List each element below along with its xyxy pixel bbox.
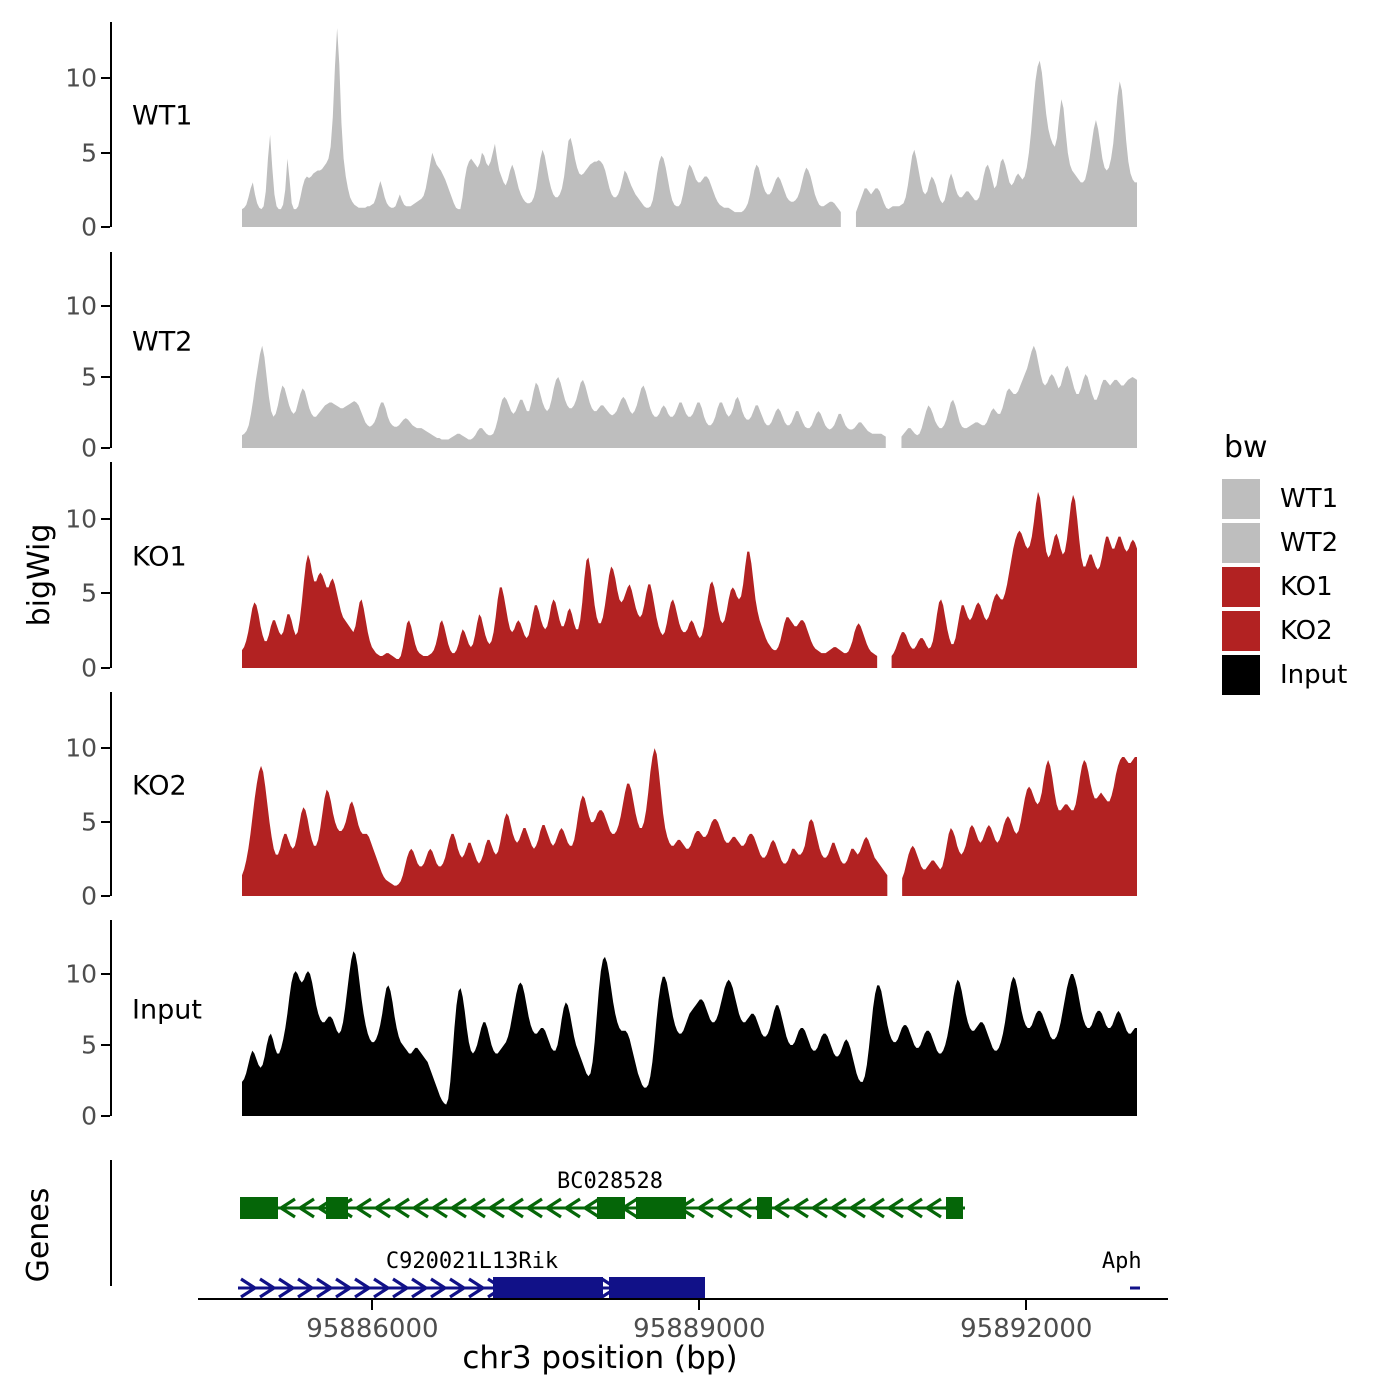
- gene-bc028528[interactable]: BC028528: [240, 1169, 965, 1219]
- y-tick: [101, 895, 110, 897]
- legend-title: bw: [1224, 430, 1397, 465]
- gene-exon: [757, 1197, 772, 1219]
- genes-track-panel: BC028528C920021L13RikAph1a: [110, 1160, 1140, 1300]
- x-axis-line: [198, 1298, 1168, 1300]
- gene-exon: [240, 1197, 278, 1219]
- gene-exon: [609, 1277, 705, 1299]
- legend-item-ko2[interactable]: KO2: [1222, 609, 1397, 653]
- y-tick-label: 5: [81, 1030, 97, 1059]
- x-tick: [698, 1300, 700, 1310]
- gene-exon: [636, 1197, 686, 1219]
- signal-path: [242, 748, 1137, 896]
- y-tick: [101, 592, 110, 594]
- gene-intron-line: [1130, 1287, 1140, 1290]
- signal-path: [242, 951, 1137, 1116]
- y-tick-label: 0: [81, 882, 97, 911]
- gene-exon: [326, 1197, 348, 1219]
- signal-path: [242, 492, 1137, 668]
- legend-item-ko1[interactable]: KO1: [1222, 565, 1397, 609]
- legend-swatch-wt1: [1222, 479, 1260, 519]
- y-tick-label: 5: [81, 808, 97, 837]
- y-tick: [101, 1044, 110, 1046]
- x-axis-title: chr3 position (bp): [0, 1340, 1200, 1376]
- y-tick-label: 0: [81, 434, 97, 463]
- y-tick: [101, 973, 110, 975]
- legend: bw WT1WT2KO1KO2Input: [1222, 430, 1397, 697]
- y-tick: [101, 667, 110, 669]
- track-panel-ko1: 0510KO1: [110, 462, 1140, 668]
- x-tick: [371, 1300, 373, 1310]
- legend-item-input[interactable]: Input: [1222, 653, 1397, 697]
- y-tick-label: 0: [81, 1102, 97, 1131]
- legend-item-wt2[interactable]: WT2: [1222, 521, 1397, 565]
- genes-axis-line: [110, 1160, 112, 1286]
- signal-path: [242, 346, 1137, 448]
- y-tick-label: 5: [81, 362, 97, 391]
- y-tick: [101, 152, 110, 154]
- y-tick: [101, 447, 110, 449]
- y-tick: [101, 376, 110, 378]
- signal-area-wt2: [112, 252, 1142, 448]
- signal-area-ko2: [112, 692, 1142, 896]
- gene-label: Aph1a: [1102, 1249, 1140, 1274]
- y-axis-title-bigwig: bigWig: [20, 495, 60, 655]
- gene-aph1a[interactable]: Aph1a: [1102, 1249, 1140, 1290]
- legend-label: KO1: [1280, 572, 1333, 602]
- y-tick-label: 5: [81, 579, 97, 608]
- y-tick: [101, 747, 110, 749]
- gene-exon: [946, 1197, 963, 1219]
- genome-browser-figure: bigWig Genes 0510WT10510WT20510KO10510KO…: [0, 0, 1400, 1400]
- gene-label: BC028528: [557, 1169, 663, 1194]
- legend-label: Input: [1280, 660, 1347, 690]
- y-tick-label: 10: [65, 734, 97, 763]
- y-tick-label: 10: [65, 959, 97, 988]
- legend-items: WT1WT2KO1KO2Input: [1222, 477, 1397, 697]
- gene-label: C920021L13Rik: [386, 1249, 558, 1274]
- y-tick-label: 10: [65, 504, 97, 533]
- track-panel-input: 0510Input: [110, 920, 1140, 1116]
- signal-area-wt1: [112, 22, 1142, 227]
- legend-swatch-ko2: [1222, 611, 1260, 651]
- y-tick: [101, 518, 110, 520]
- y-tick-label: 10: [65, 291, 97, 320]
- signal-area-ko1: [112, 462, 1142, 668]
- x-tick: [1025, 1300, 1027, 1310]
- y-axis-title-genes: Genes: [19, 1165, 59, 1305]
- legend-swatch-wt2: [1222, 523, 1260, 563]
- y-tick: [101, 77, 110, 79]
- y-tick-label: 10: [65, 64, 97, 93]
- gene-exon: [597, 1197, 625, 1219]
- y-tick-label: 5: [81, 138, 97, 167]
- track-panel-wt2: 0510WT2: [110, 252, 1140, 448]
- y-tick-label: 0: [81, 213, 97, 242]
- signal-area-input: [112, 920, 1142, 1116]
- y-tick-label: 0: [81, 654, 97, 683]
- y-tick: [101, 1115, 110, 1117]
- track-panel-ko2: 0510KO2: [110, 692, 1140, 896]
- legend-swatch-input: [1222, 655, 1260, 695]
- gene-exon: [493, 1277, 603, 1299]
- y-tick: [101, 821, 110, 823]
- genes-diagram: BC028528C920021L13RikAph1a: [110, 1160, 1140, 1300]
- y-tick: [101, 305, 110, 307]
- legend-label: WT1: [1280, 484, 1338, 514]
- legend-label: KO2: [1280, 616, 1333, 646]
- y-tick: [101, 226, 110, 228]
- legend-label: WT2: [1280, 528, 1338, 558]
- legend-swatch-ko1: [1222, 567, 1260, 607]
- legend-item-wt1[interactable]: WT1: [1222, 477, 1397, 521]
- signal-path: [242, 28, 1137, 227]
- gene-c920021l13rik[interactable]: C920021L13Rik: [238, 1249, 705, 1299]
- track-panel-wt1: 0510WT1: [110, 22, 1140, 227]
